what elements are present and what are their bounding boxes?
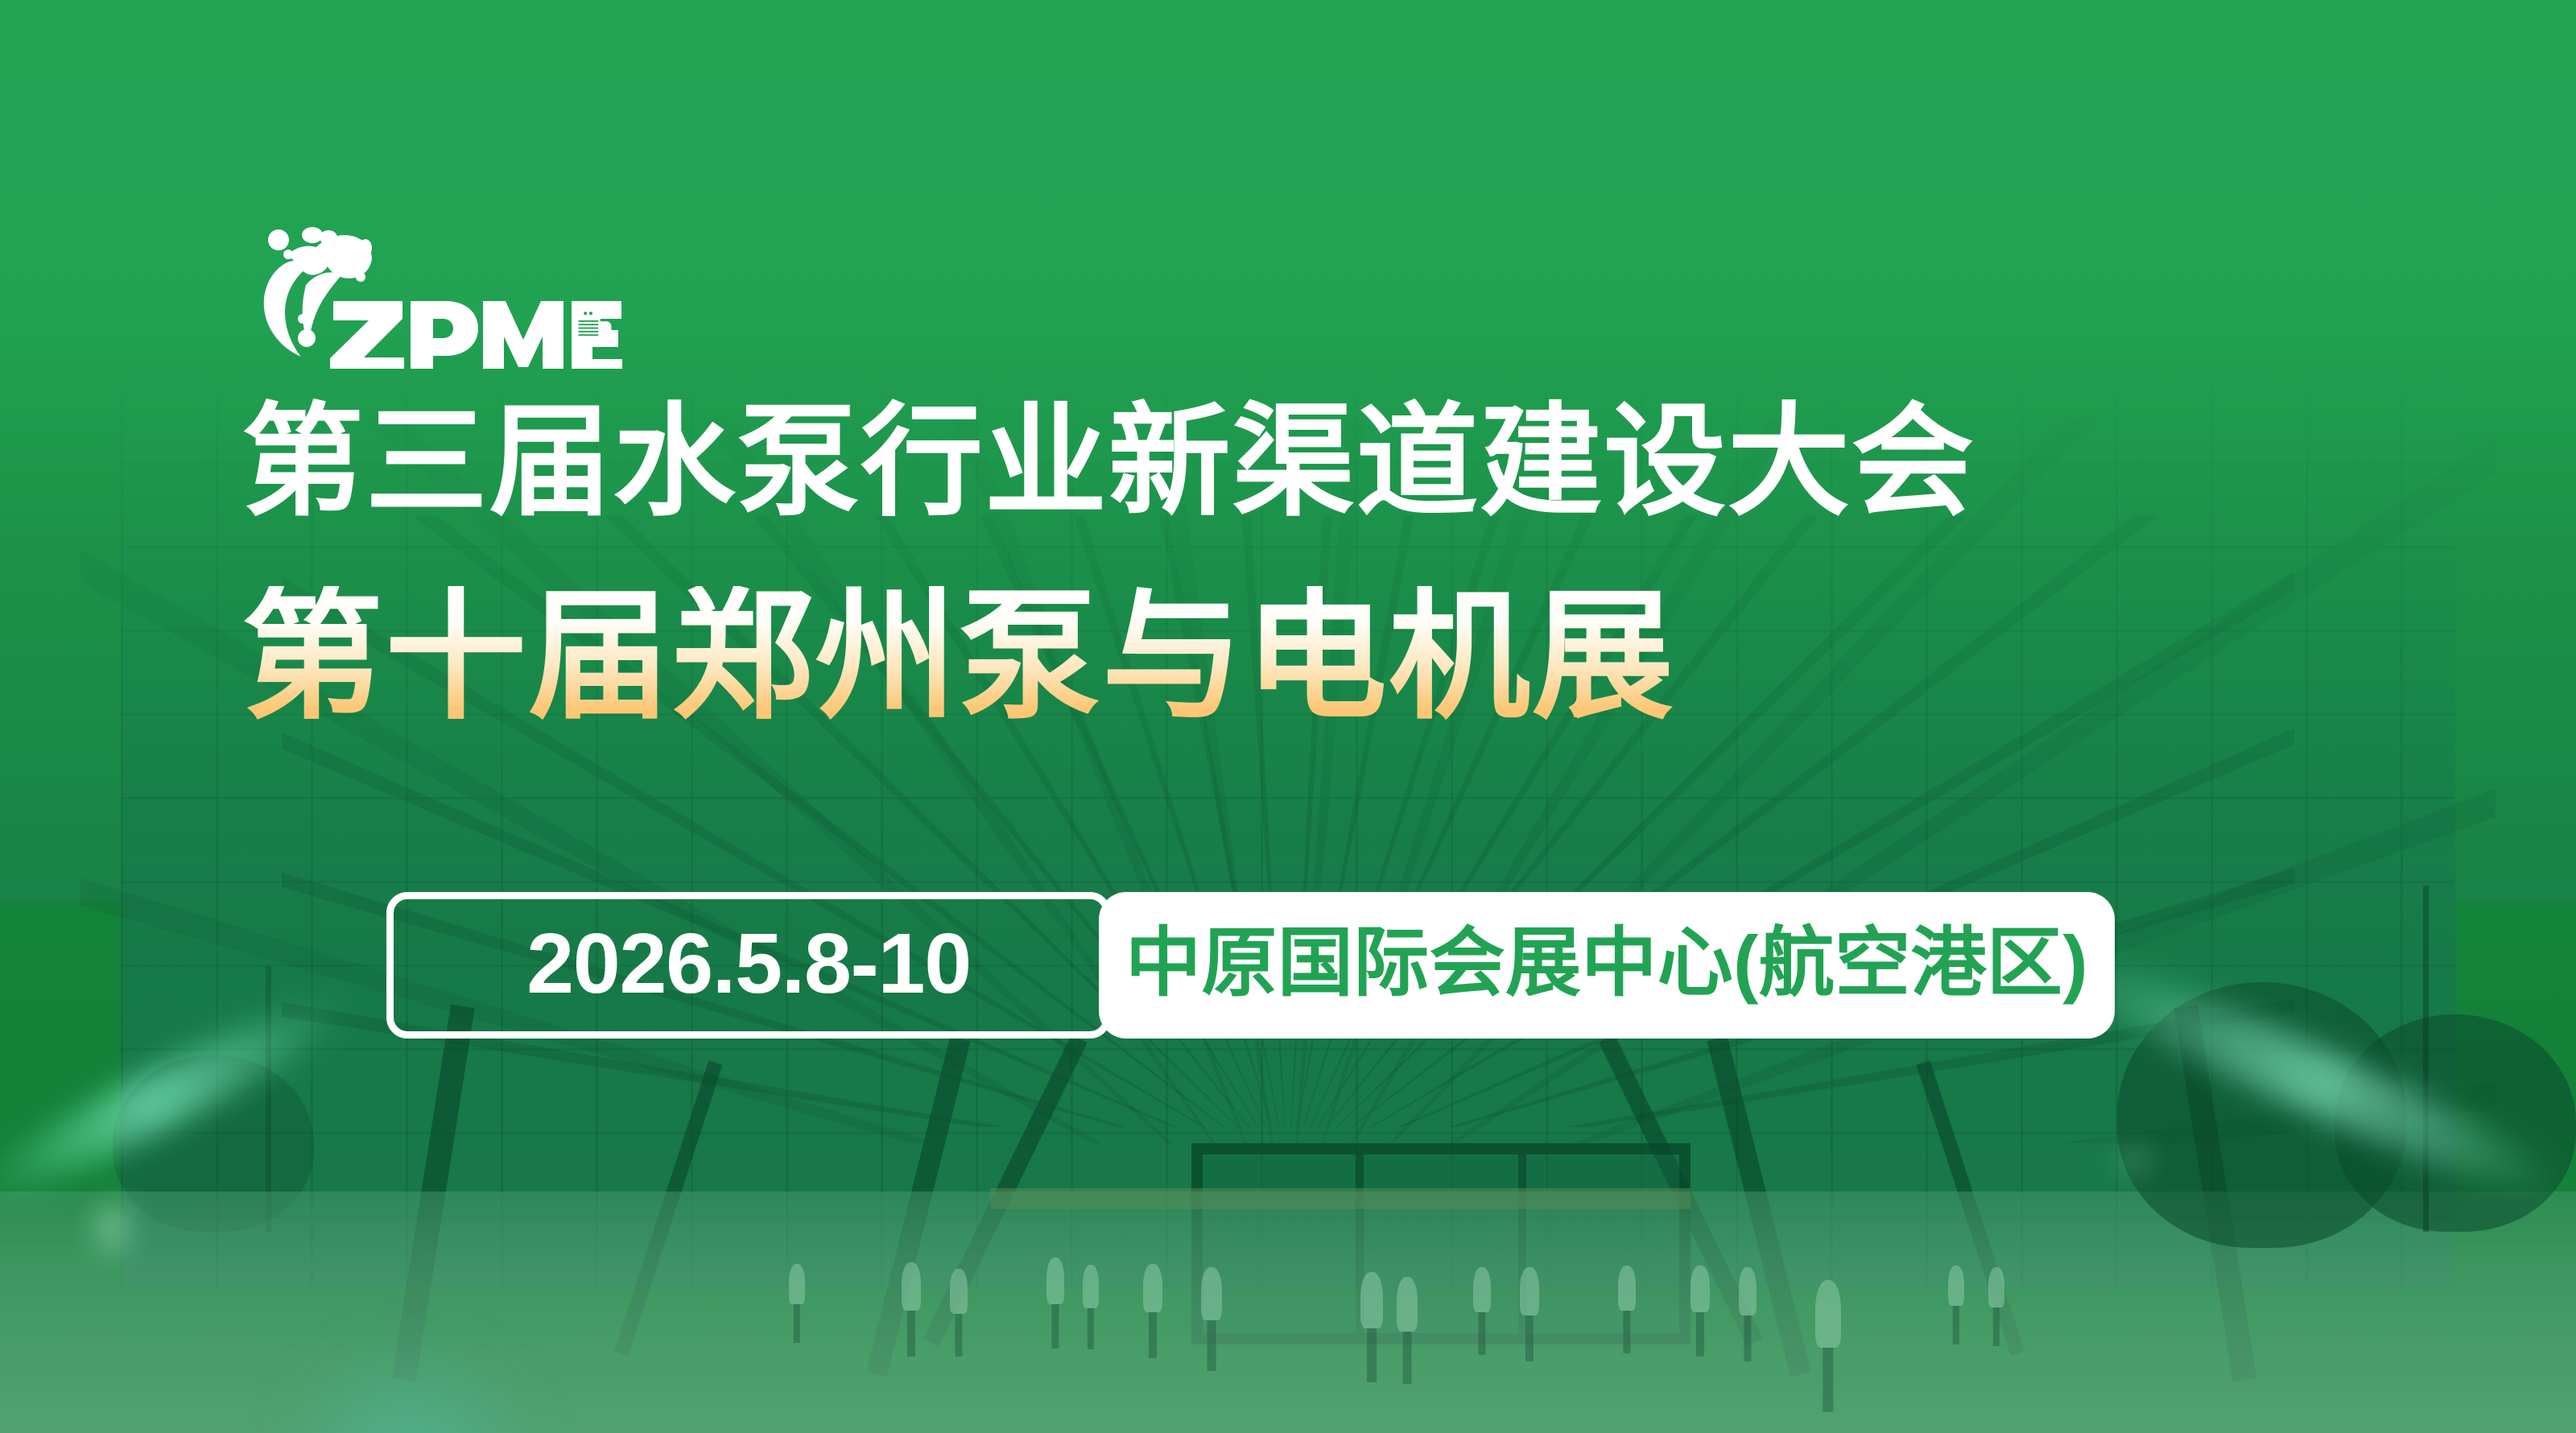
event-banner: 第三届水泵行业新渠道建设大会 第十届郑州泵与电机展 2026.5.8-10 中原… [0,0,2576,1433]
banner-content: 第三届水泵行业新渠道建设大会 第十届郑州泵与电机展 2026.5.8-10 中原… [0,0,2576,1433]
zpme-logo [238,216,625,369]
event-venue-badge: 中原国际会展中心(航空港区) [1099,892,2115,1039]
headline-line-1: 第三届水泵行业新渠道建设大会 [242,401,1975,523]
event-venue-text: 中原国际会展中心(航空港区) [1125,925,2088,1001]
event-date-text: 2026.5.8-10 [526,921,971,1006]
event-info-bar: 2026.5.8-10 中原国际会展中心(航空港区) [386,892,2117,1039]
headline-line-2: 第十届郑州泵与电机展 [242,586,1675,728]
event-date-badge: 2026.5.8-10 [386,892,1111,1039]
